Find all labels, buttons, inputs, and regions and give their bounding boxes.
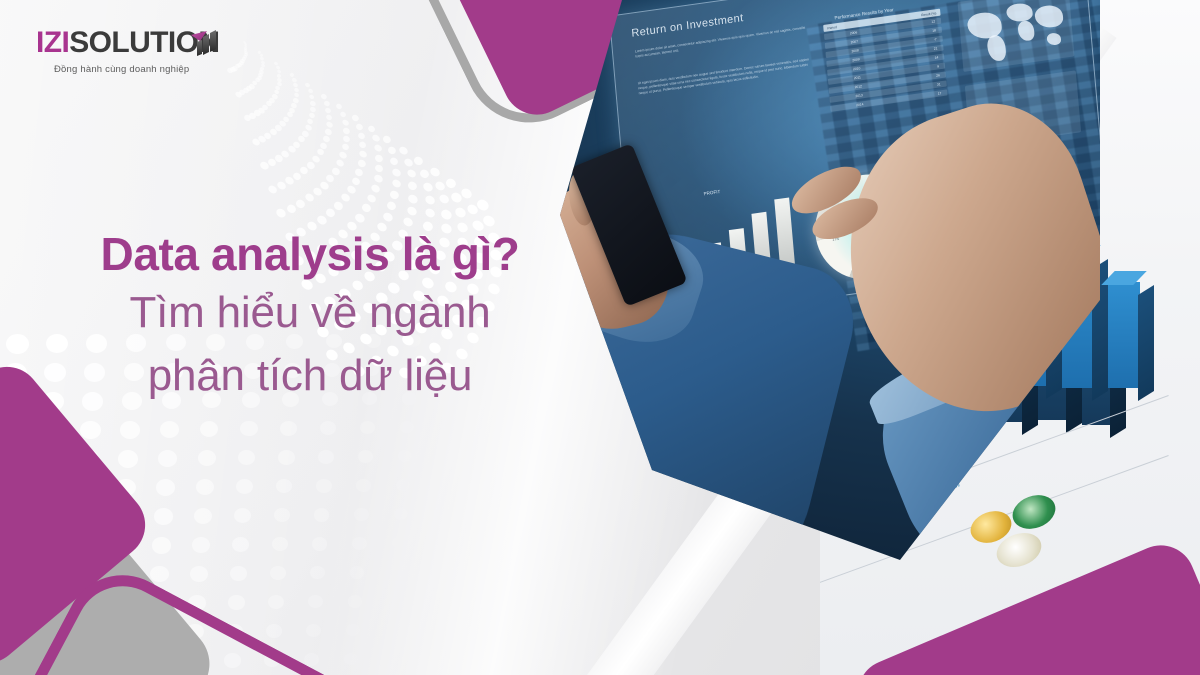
brand-logo[interactable]: IZISOLUTION Đồng hành cùng doanh nghiệp: [36, 28, 219, 75]
headline-line-3: phân tích dữ liệu: [0, 345, 620, 407]
poster-canvas: Return on Investment Lorem ipsum dolor s…: [0, 0, 1200, 675]
bar-chart-arrow-icon: [190, 30, 220, 58]
dashboard-table: PeriodResult (%)2006122007182008-7200921…: [823, 9, 948, 115]
headline-line-1: Data analysis là gì?: [0, 226, 620, 282]
logo-izi-text: IZI: [36, 26, 69, 59]
headline-block: Data analysis là gì? Tìm hiểu về ngành p…: [0, 226, 620, 407]
dashboard-paragraph-2: Ut eget ipsum diam, duis vestibulum nec …: [638, 57, 814, 97]
world-map-panel: [957, 0, 1074, 72]
headline-line-2: Tìm hiểu về ngành: [0, 282, 620, 344]
logo-tagline: Đồng hành cùng doanh nghiệp: [54, 64, 219, 75]
